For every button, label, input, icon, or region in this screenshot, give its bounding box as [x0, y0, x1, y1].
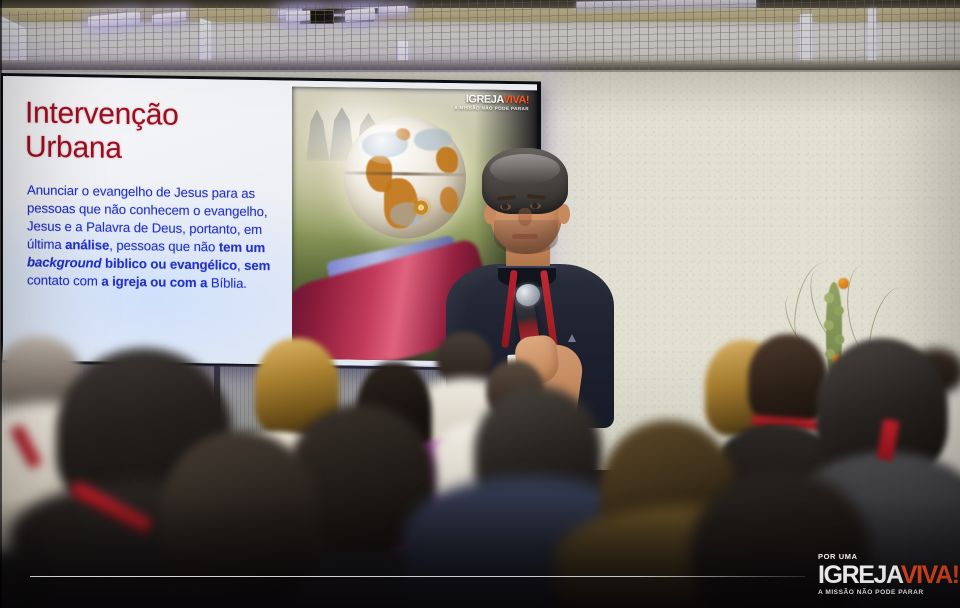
audience: [0, 0, 960, 608]
watermark-line2: IGREJAVIVA!: [818, 563, 948, 588]
brand-divider-line: [30, 576, 805, 577]
audience-head: [160, 430, 320, 600]
watermark-tagline: A MISSÃO NÃO PODE PARAR: [818, 590, 948, 597]
watermark-line1: POR UMA: [818, 553, 948, 561]
watermark-igreja: IGREJA: [818, 561, 901, 589]
watermark-viva: VIVA!: [901, 561, 959, 589]
photo-scene: Intervenção Urbana Anunciar o evangelho …: [0, 0, 960, 608]
watermark-logo: POR UMA IGREJAVIVA! A MISSÃO NÃO PODE PA…: [818, 553, 948, 596]
